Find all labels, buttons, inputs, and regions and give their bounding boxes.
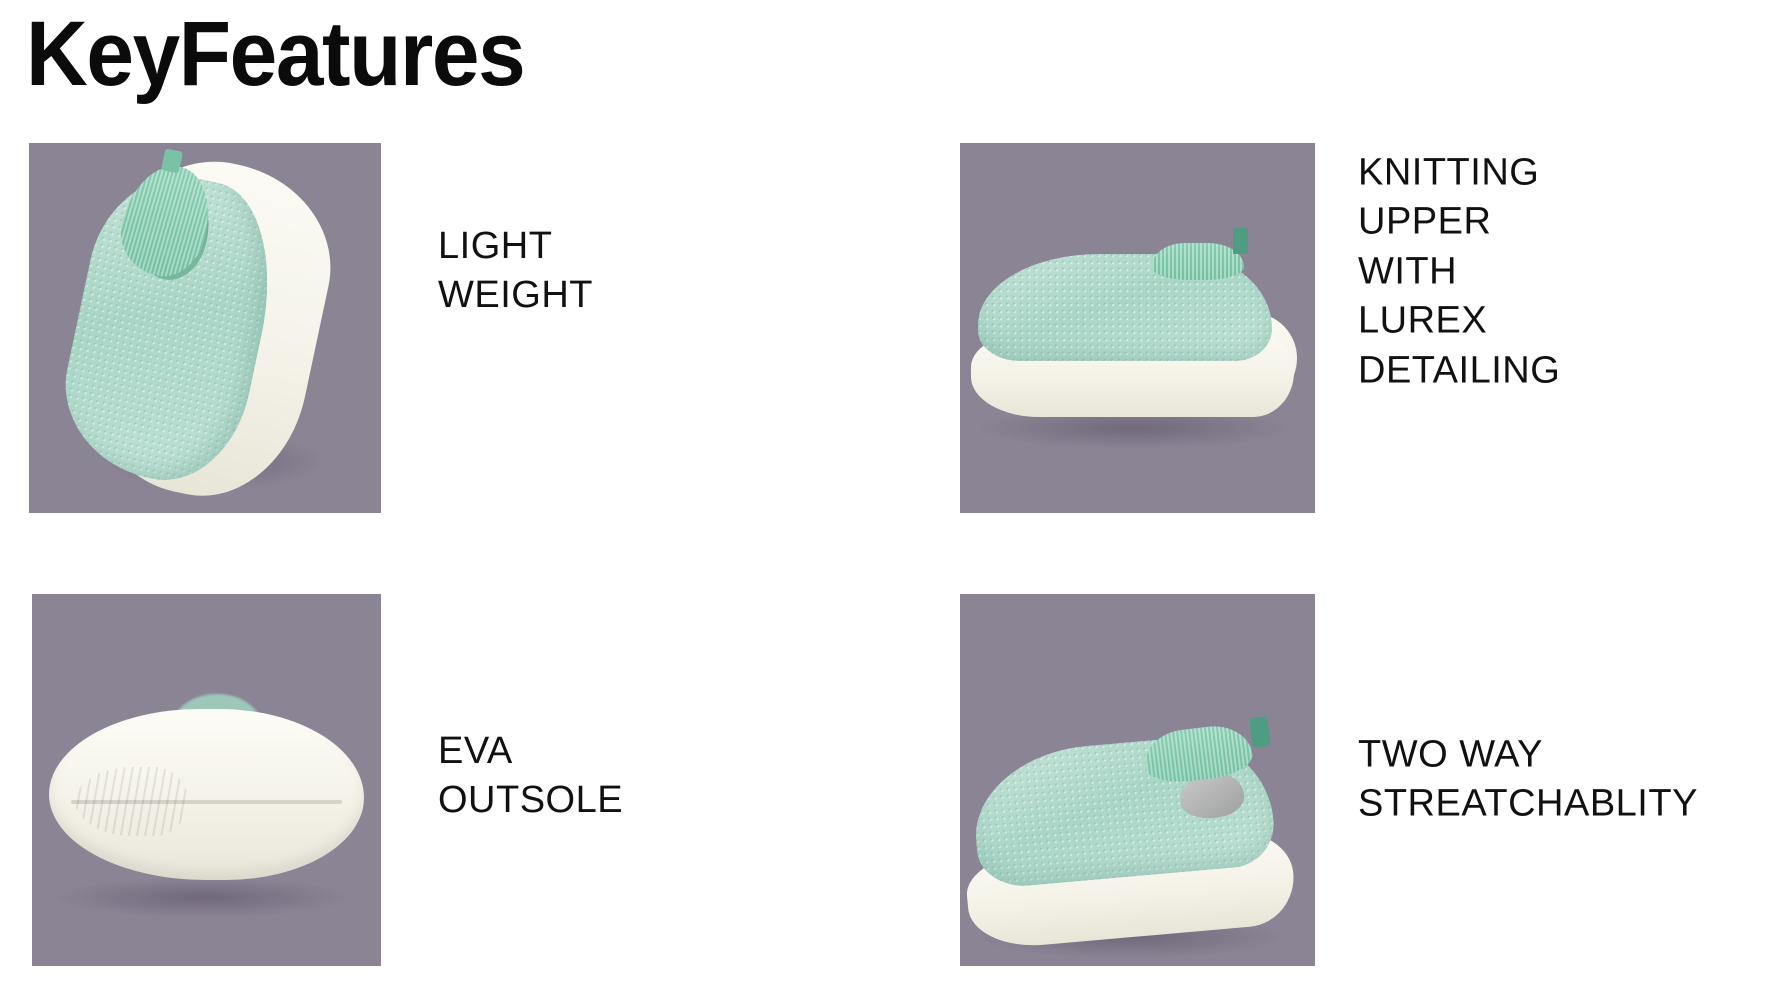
tile-background (32, 594, 381, 966)
page-title: KeyFeatures (26, 6, 524, 103)
shoe-pull-tab (1249, 716, 1270, 748)
feature-image-two-way-stretchablity (960, 594, 1315, 966)
feature-label-two-way-stretchablity: TWO WAY STREATCHABLITY (1358, 731, 1698, 830)
shoe-collar (1152, 243, 1244, 280)
tile-background (29, 143, 381, 513)
feature-image-light-weight (29, 143, 381, 513)
shoe-illustration-top-view (29, 143, 381, 513)
tile-background (960, 143, 1315, 513)
feature-label-light-weight: LIGHT WEIGHT (438, 222, 593, 321)
shoe-pull-tab (1233, 228, 1247, 254)
feature-label-knitting-upper: KNITTING UPPER WITH LUREX DETAILING (1358, 149, 1560, 396)
shoe-illustration-side-view (960, 143, 1315, 513)
feature-label-eva-outsole: EVA OUTSOLE (438, 727, 623, 826)
feature-image-knitting-upper (960, 143, 1315, 513)
shoe-shadow (53, 877, 353, 918)
shoe-illustration-three-quarter-view (960, 594, 1315, 966)
tile-background (960, 594, 1315, 966)
outsole-groove (71, 800, 341, 804)
shoe-illustration-outsole-view (32, 594, 381, 966)
shoe-outsole (49, 709, 363, 880)
feature-image-eva-outsole (32, 594, 381, 966)
